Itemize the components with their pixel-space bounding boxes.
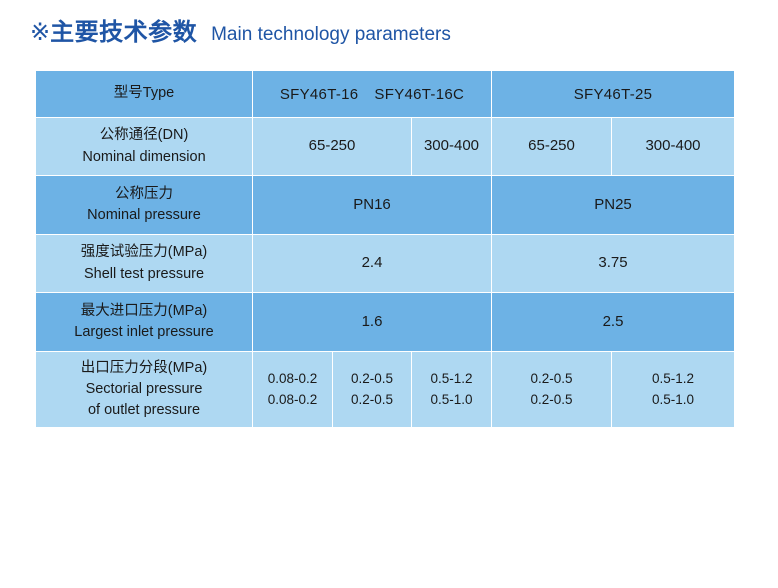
cell-outlet-25-seg2-line2: 0.5-1.0 [612,390,734,411]
table-row: 强度试验压力(MPa) Shell test pressure 2.4 3.75 [36,235,735,293]
cell-nominal-pressure-pn25: PN25 [492,176,735,235]
row-label-sectorial-pressure: 出口压力分段(MPa) Sectorial pressure of outlet… [36,352,253,428]
row-label-shell-test-pressure: 强度试验压力(MPa) Shell test pressure [36,235,253,293]
table-row: 公称通径(DN) Nominal dimension 65-250 300-40… [36,118,735,176]
cell-outlet-16-seg1: 0.08-0.2 0.08-0.2 [253,352,333,428]
cell-outlet-16-seg1-line2: 0.08-0.2 [253,390,332,411]
page-title: ※ 主要技术参数 Main technology parameters [30,21,451,45]
row-label-largest-inlet-pressure-en: Largest inlet pressure [36,322,252,343]
cell-outlet-25-seg1-line2: 0.2-0.5 [492,390,611,411]
cell-inlet-pn25: 2.5 [492,293,735,352]
row-label-shell-test-pressure-en: Shell test pressure [36,264,252,285]
cell-outlet-16-seg1-line1: 0.08-0.2 [253,369,332,390]
cell-dn-25-b: 300-400 [612,118,735,176]
page-title-cn: 主要技术参数 [50,21,197,45]
row-label-nominal-pressure: 公称压力 Nominal pressure [36,176,253,235]
cell-nominal-pressure-pn16: PN16 [253,176,492,235]
type-sfy46t-16c: SFY46T-16C [374,86,464,103]
cell-type-pn25-group: SFY46T-25 [492,71,735,118]
cell-outlet-16-seg2: 0.2-0.5 0.2-0.5 [333,352,412,428]
row-label-nominal-dimension: 公称通径(DN) Nominal dimension [36,118,253,176]
cell-outlet-16-seg3: 0.5-1.2 0.5-1.0 [412,352,492,428]
page-title-en: Main technology parameters [211,25,451,44]
cell-shell-test-pn16: 2.4 [253,235,492,293]
table-row: 型号Type SFY46T-16SFY46T-16C SFY46T-25 [36,71,735,118]
cell-dn-25-a: 65-250 [492,118,612,176]
asterisk-mark-icon: ※ [30,21,50,45]
row-label-nominal-pressure-cn: 公称压力 [36,184,252,205]
cell-outlet-16-seg3-line1: 0.5-1.2 [412,369,491,390]
type-sfy46t-16: SFY46T-16 [280,86,359,103]
cell-inlet-pn16: 1.6 [253,293,492,352]
table-row: 公称压力 Nominal pressure PN16 PN25 [36,176,735,235]
cell-dn-16-a: 65-250 [253,118,412,176]
cell-outlet-16-seg3-line2: 0.5-1.0 [412,390,491,411]
table-row: 出口压力分段(MPa) Sectorial pressure of outlet… [36,352,735,428]
cell-outlet-25-seg2-line1: 0.5-1.2 [612,369,734,390]
cell-outlet-16-seg2-line1: 0.2-0.5 [333,369,411,390]
cell-outlet-25-seg1: 0.2-0.5 0.2-0.5 [492,352,612,428]
row-label-sectorial-pressure-en: Sectorial pressure [36,379,252,400]
row-label-sectorial-pressure-cn: 出口压力分段(MPa) [36,358,252,379]
row-label-nominal-pressure-en: Nominal pressure [36,205,252,226]
row-label-largest-inlet-pressure-cn: 最大进口压力(MPa) [36,301,252,322]
row-label-nominal-dimension-en: Nominal dimension [36,147,252,168]
row-label-type: 型号Type [36,71,253,118]
cell-outlet-25-seg2: 0.5-1.2 0.5-1.0 [612,352,735,428]
specifications-table: 型号Type SFY46T-16SFY46T-16C SFY46T-25 公称通… [35,70,735,428]
cell-shell-test-pn25: 3.75 [492,235,735,293]
cell-type-pn16-group: SFY46T-16SFY46T-16C [253,71,492,118]
cell-dn-16-b: 300-400 [412,118,492,176]
row-label-largest-inlet-pressure: 最大进口压力(MPa) Largest inlet pressure [36,293,253,352]
row-label-type-cn: 型号Type [114,85,174,101]
cell-outlet-25-seg1-line1: 0.2-0.5 [492,369,611,390]
row-label-sectorial-pressure-en2: of outlet pressure [36,400,252,421]
row-label-nominal-dimension-cn: 公称通径(DN) [36,125,252,146]
row-label-shell-test-pressure-cn: 强度试验压力(MPa) [36,242,252,263]
cell-outlet-16-seg2-line2: 0.2-0.5 [333,390,411,411]
table-row: 最大进口压力(MPa) Largest inlet pressure 1.6 2… [36,293,735,352]
